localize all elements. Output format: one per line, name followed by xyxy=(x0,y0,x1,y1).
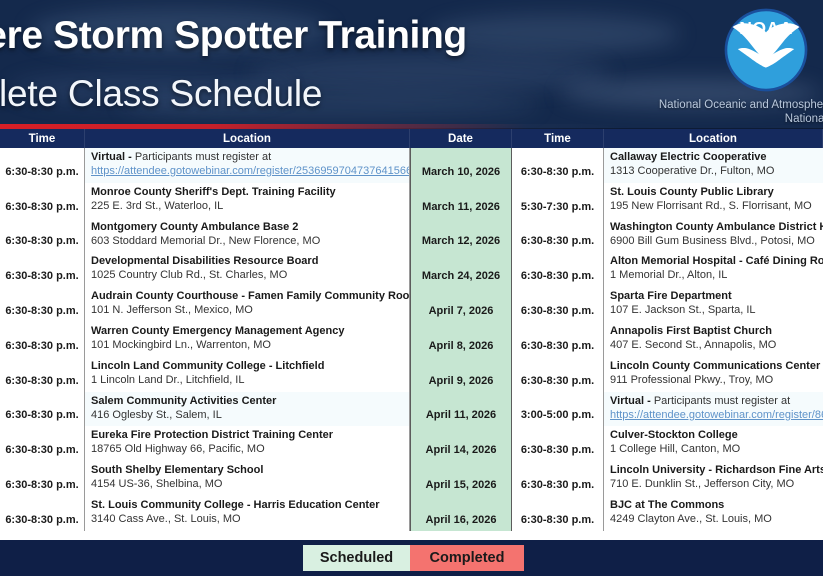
location-address: 6900 Bill Gum Business Blvd., Potosi, MO xyxy=(610,234,819,248)
location-address: 1 Memorial Dr., Alton, IL xyxy=(610,268,819,282)
date-cell: April 7, 2026 xyxy=(410,287,512,322)
location-name: South Shelby Elementary School xyxy=(91,463,405,477)
location-name: Warren County Emergency Management Agenc… xyxy=(91,324,405,338)
location-name: BJC at The Commons xyxy=(610,498,819,512)
location-name: Montgomery County Ambulance Base 2 xyxy=(91,220,405,234)
agency-name-line-1: National Oceanic and Atmospher xyxy=(659,99,823,111)
date-cell: April 9, 2026 xyxy=(410,357,512,392)
location-cell-left: Warren County Emergency Management Agenc… xyxy=(85,322,410,357)
location-address: 710 E. Dunklin St., Jefferson City, MO xyxy=(610,477,819,491)
location-address: 3140 Cass Ave., St. Louis, MO xyxy=(91,512,405,526)
location-cell-left: Audrain County Courthouse - Famen Family… xyxy=(85,287,410,322)
location-cell-left: St. Louis Community College - Harris Edu… xyxy=(85,496,410,531)
date-cell: April 16, 2026 xyxy=(410,496,512,531)
date-cell: March 10, 2026 xyxy=(410,148,512,183)
time-cell-left: 6:30-8:30 p.m. xyxy=(0,461,85,496)
location-cell-right: Sparta Fire Department107 E. Jackson St.… xyxy=(604,287,823,322)
location-address: 407 E. Second St., Annapolis, MO xyxy=(610,338,819,352)
time-cell-left: 6:30-8:30 p.m. xyxy=(0,183,85,218)
table-row[interactable]: 6:30-8:30 p.m.Salem Community Activities… xyxy=(0,392,823,427)
table-header-row: Time Location Date Time Location xyxy=(0,129,823,148)
location-cell-right: Washington County Ambulance District He6… xyxy=(604,218,823,253)
location-name: Annapolis First Baptist Church xyxy=(610,324,819,338)
virtual-label: Virtual - xyxy=(91,151,132,163)
location-name: Virtual - Participants must register at xyxy=(91,150,405,164)
date-cell: March 24, 2026 xyxy=(410,252,512,287)
location-cell-right: Annapolis First Baptist Church407 E. Sec… xyxy=(604,322,823,357)
date-cell: April 11, 2026 xyxy=(410,392,512,427)
noaa-logo-icon: NOAA xyxy=(722,6,810,94)
location-cell-left: Lincoln Land Community College - Litchfi… xyxy=(85,357,410,392)
location-cell-right: Alton Memorial Hospital - Café Dining Ro… xyxy=(604,252,823,287)
footer-bar: Scheduled Completed xyxy=(0,540,823,576)
location-name: Lincoln County Communications Center xyxy=(610,359,819,373)
column-header-time-right: Time xyxy=(512,129,604,148)
time-cell-left: 6:30-8:30 p.m. xyxy=(0,426,85,461)
virtual-label: Virtual - xyxy=(610,395,651,407)
location-cell-right: Lincoln University - Richardson Fine Art… xyxy=(604,461,823,496)
time-cell-left: 6:30-8:30 p.m. xyxy=(0,252,85,287)
location-cell-right: BJC at The Commons4249 Clayton Ave., St.… xyxy=(604,496,823,531)
location-cell-left: Montgomery County Ambulance Base 2603 St… xyxy=(85,218,410,253)
location-cell-right: Lincoln County Communications Center911 … xyxy=(604,357,823,392)
time-cell-left: 6:30-8:30 p.m. xyxy=(0,322,85,357)
column-header-location-left: Location xyxy=(85,129,410,148)
time-cell-right: 6:30-8:30 p.m. xyxy=(512,461,604,496)
table-row[interactable]: 6:30-8:30 p.m.Montgomery County Ambulanc… xyxy=(0,218,823,253)
legend-scheduled-badge[interactable]: Scheduled xyxy=(303,545,410,571)
location-address: 107 E. Jackson St., Sparta, IL xyxy=(610,303,819,317)
time-cell-right: 6:30-8:30 p.m. xyxy=(512,426,604,461)
table-row[interactable]: 6:30-8:30 p.m.South Shelby Elementary Sc… xyxy=(0,461,823,496)
location-cell-left: Developmental Disabilities Resource Boar… xyxy=(85,252,410,287)
time-cell-left: 6:30-8:30 p.m. xyxy=(0,287,85,322)
table-row[interactable]: 6:30-8:30 p.m.Virtual - Participants mus… xyxy=(0,148,823,183)
date-cell: April 14, 2026 xyxy=(410,426,512,461)
location-cell-right: Callaway Electric Cooperative1313 Cooper… xyxy=(604,148,823,183)
location-name: Sparta Fire Department xyxy=(610,289,819,303)
location-address: 101 Mockingbird Ln., Warrenton, MO xyxy=(91,338,405,352)
location-cell-right: Culver-Stockton College1 College Hill, C… xyxy=(604,426,823,461)
time-cell-right: 6:30-8:30 p.m. xyxy=(512,322,604,357)
time-cell-left: 6:30-8:30 p.m. xyxy=(0,357,85,392)
location-address: 603 Stoddard Memorial Dr., New Florence,… xyxy=(91,234,405,248)
column-header-date: Date xyxy=(410,129,512,148)
time-cell-right: 6:30-8:30 p.m. xyxy=(512,287,604,322)
location-address: 4154 US-36, Shelbina, MO xyxy=(91,477,405,491)
time-cell-right: 6:30-8:30 p.m. xyxy=(512,496,604,531)
table-row[interactable]: 6:30-8:30 p.m.Audrain County Courthouse … xyxy=(0,287,823,322)
time-cell-left: 6:30-8:30 p.m. xyxy=(0,392,85,427)
time-cell-left: 6:30-8:30 p.m. xyxy=(0,218,85,253)
registration-link[interactable]: https://attendee.gotowebinar.com/registe… xyxy=(91,164,405,178)
table-row[interactable]: 6:30-8:30 p.m.Developmental Disabilities… xyxy=(0,252,823,287)
location-address: 101 N. Jefferson St., Mexico, MO xyxy=(91,303,405,317)
location-cell-left: Salem Community Activities Center416 Ogl… xyxy=(85,392,410,427)
location-address: 1313 Cooperative Dr., Fulton, MO xyxy=(610,164,819,178)
schedule-table: Time Location Date Time Location 6:30-8:… xyxy=(0,129,823,576)
legend-completed-badge[interactable]: Completed xyxy=(410,545,524,571)
date-cell: April 8, 2026 xyxy=(410,322,512,357)
noaa-wordmark: NOAA xyxy=(739,18,793,38)
time-cell-right: 5:30-7:30 p.m. xyxy=(512,183,604,218)
location-cell-left: South Shelby Elementary School4154 US-36… xyxy=(85,461,410,496)
time-cell-right: 6:30-8:30 p.m. xyxy=(512,252,604,287)
location-address: 195 New Florrisant Rd., S. Florrisant, M… xyxy=(610,199,819,213)
time-cell-right: 6:30-8:30 p.m. xyxy=(512,148,604,183)
location-address: 1025 Country Club Rd., St. Charles, MO xyxy=(91,268,405,282)
location-cell-left: Monroe County Sheriff's Dept. Training F… xyxy=(85,183,410,218)
table-row[interactable]: 6:30-8:30 p.m.Warren County Emergency Ma… xyxy=(0,322,823,357)
location-name: Washington County Ambulance District He xyxy=(610,220,819,234)
table-body: 6:30-8:30 p.m.Virtual - Participants mus… xyxy=(0,148,823,531)
table-row[interactable]: 6:30-8:30 p.m.Lincoln Land Community Col… xyxy=(0,357,823,392)
location-address: 1 Lincoln Land Dr., Litchfield, IL xyxy=(91,373,405,387)
location-address: 18765 Old Highway 66, Pacific, MO xyxy=(91,442,405,456)
column-header-location-right: Location xyxy=(604,129,823,148)
location-name: Monroe County Sheriff's Dept. Training F… xyxy=(91,185,405,199)
location-address: 911 Professional Pkwy., Troy, MO xyxy=(610,373,819,387)
virtual-instruction: Participants must register at xyxy=(132,151,271,163)
location-name: St. Louis Community College - Harris Edu… xyxy=(91,498,405,512)
time-cell-right: 6:30-8:30 p.m. xyxy=(512,357,604,392)
location-name: Alton Memorial Hospital - Café Dining Ro… xyxy=(610,254,819,268)
location-address: 4249 Clayton Ave., St. Louis, MO xyxy=(610,512,819,526)
date-cell: March 12, 2026 xyxy=(410,218,512,253)
location-address: 225 E. 3rd St., Waterloo, IL xyxy=(91,199,405,213)
location-cell-left: Eureka Fire Protection District Training… xyxy=(85,426,410,461)
time-cell-left: 6:30-8:30 p.m. xyxy=(0,496,85,531)
banner-header: vere Storm Spotter Training mplete Class… xyxy=(0,0,823,128)
schedule-page: vere Storm Spotter Training mplete Class… xyxy=(0,0,823,576)
column-header-time-left: Time xyxy=(0,129,85,148)
location-name: Callaway Electric Cooperative xyxy=(610,150,819,164)
location-cell-right: St. Louis County Public Library195 New F… xyxy=(604,183,823,218)
location-name: Virtual - Participants must register at xyxy=(610,394,819,408)
table-row[interactable]: 6:30-8:30 p.m.Monroe County Sheriff's De… xyxy=(0,183,823,218)
date-cell: March 11, 2026 xyxy=(410,183,512,218)
time-cell-right: 3:00-5:00 p.m. xyxy=(512,392,604,427)
location-name: Lincoln Land Community College - Litchfi… xyxy=(91,359,405,373)
location-name: Eureka Fire Protection District Training… xyxy=(91,428,405,442)
location-address: 416 Oglesby St., Salem, IL xyxy=(91,408,405,422)
location-address: 1 College Hill, Canton, MO xyxy=(610,442,819,456)
page-title: vere Storm Spotter Training xyxy=(0,14,724,58)
location-name: St. Louis County Public Library xyxy=(610,185,819,199)
location-cell-right: Virtual - Participants must register ath… xyxy=(604,392,823,427)
registration-link[interactable]: https://attendee.gotowebinar.com/registe… xyxy=(610,408,819,422)
table-row[interactable]: 6:30-8:30 p.m.Eureka Fire Protection Dis… xyxy=(0,426,823,461)
time-cell-left: 6:30-8:30 p.m. xyxy=(0,148,85,183)
status-legend: Scheduled Completed xyxy=(303,545,524,571)
location-cell-left: Virtual - Participants must register ath… xyxy=(85,148,410,183)
table-row[interactable]: 6:30-8:30 p.m.St. Louis Community Colleg… xyxy=(0,496,823,531)
location-name: Salem Community Activities Center xyxy=(91,394,405,408)
location-name: Audrain County Courthouse - Famen Family… xyxy=(91,289,405,303)
location-name: Developmental Disabilities Resource Boar… xyxy=(91,254,405,268)
page-subtitle: mplete Class Schedule xyxy=(0,73,648,115)
virtual-instruction: Participants must register at xyxy=(651,395,790,407)
time-cell-right: 6:30-8:30 p.m. xyxy=(512,218,604,253)
date-cell: April 15, 2026 xyxy=(410,461,512,496)
location-name: Culver-Stockton College xyxy=(610,428,819,442)
location-name: Lincoln University - Richardson Fine Art… xyxy=(610,463,819,477)
